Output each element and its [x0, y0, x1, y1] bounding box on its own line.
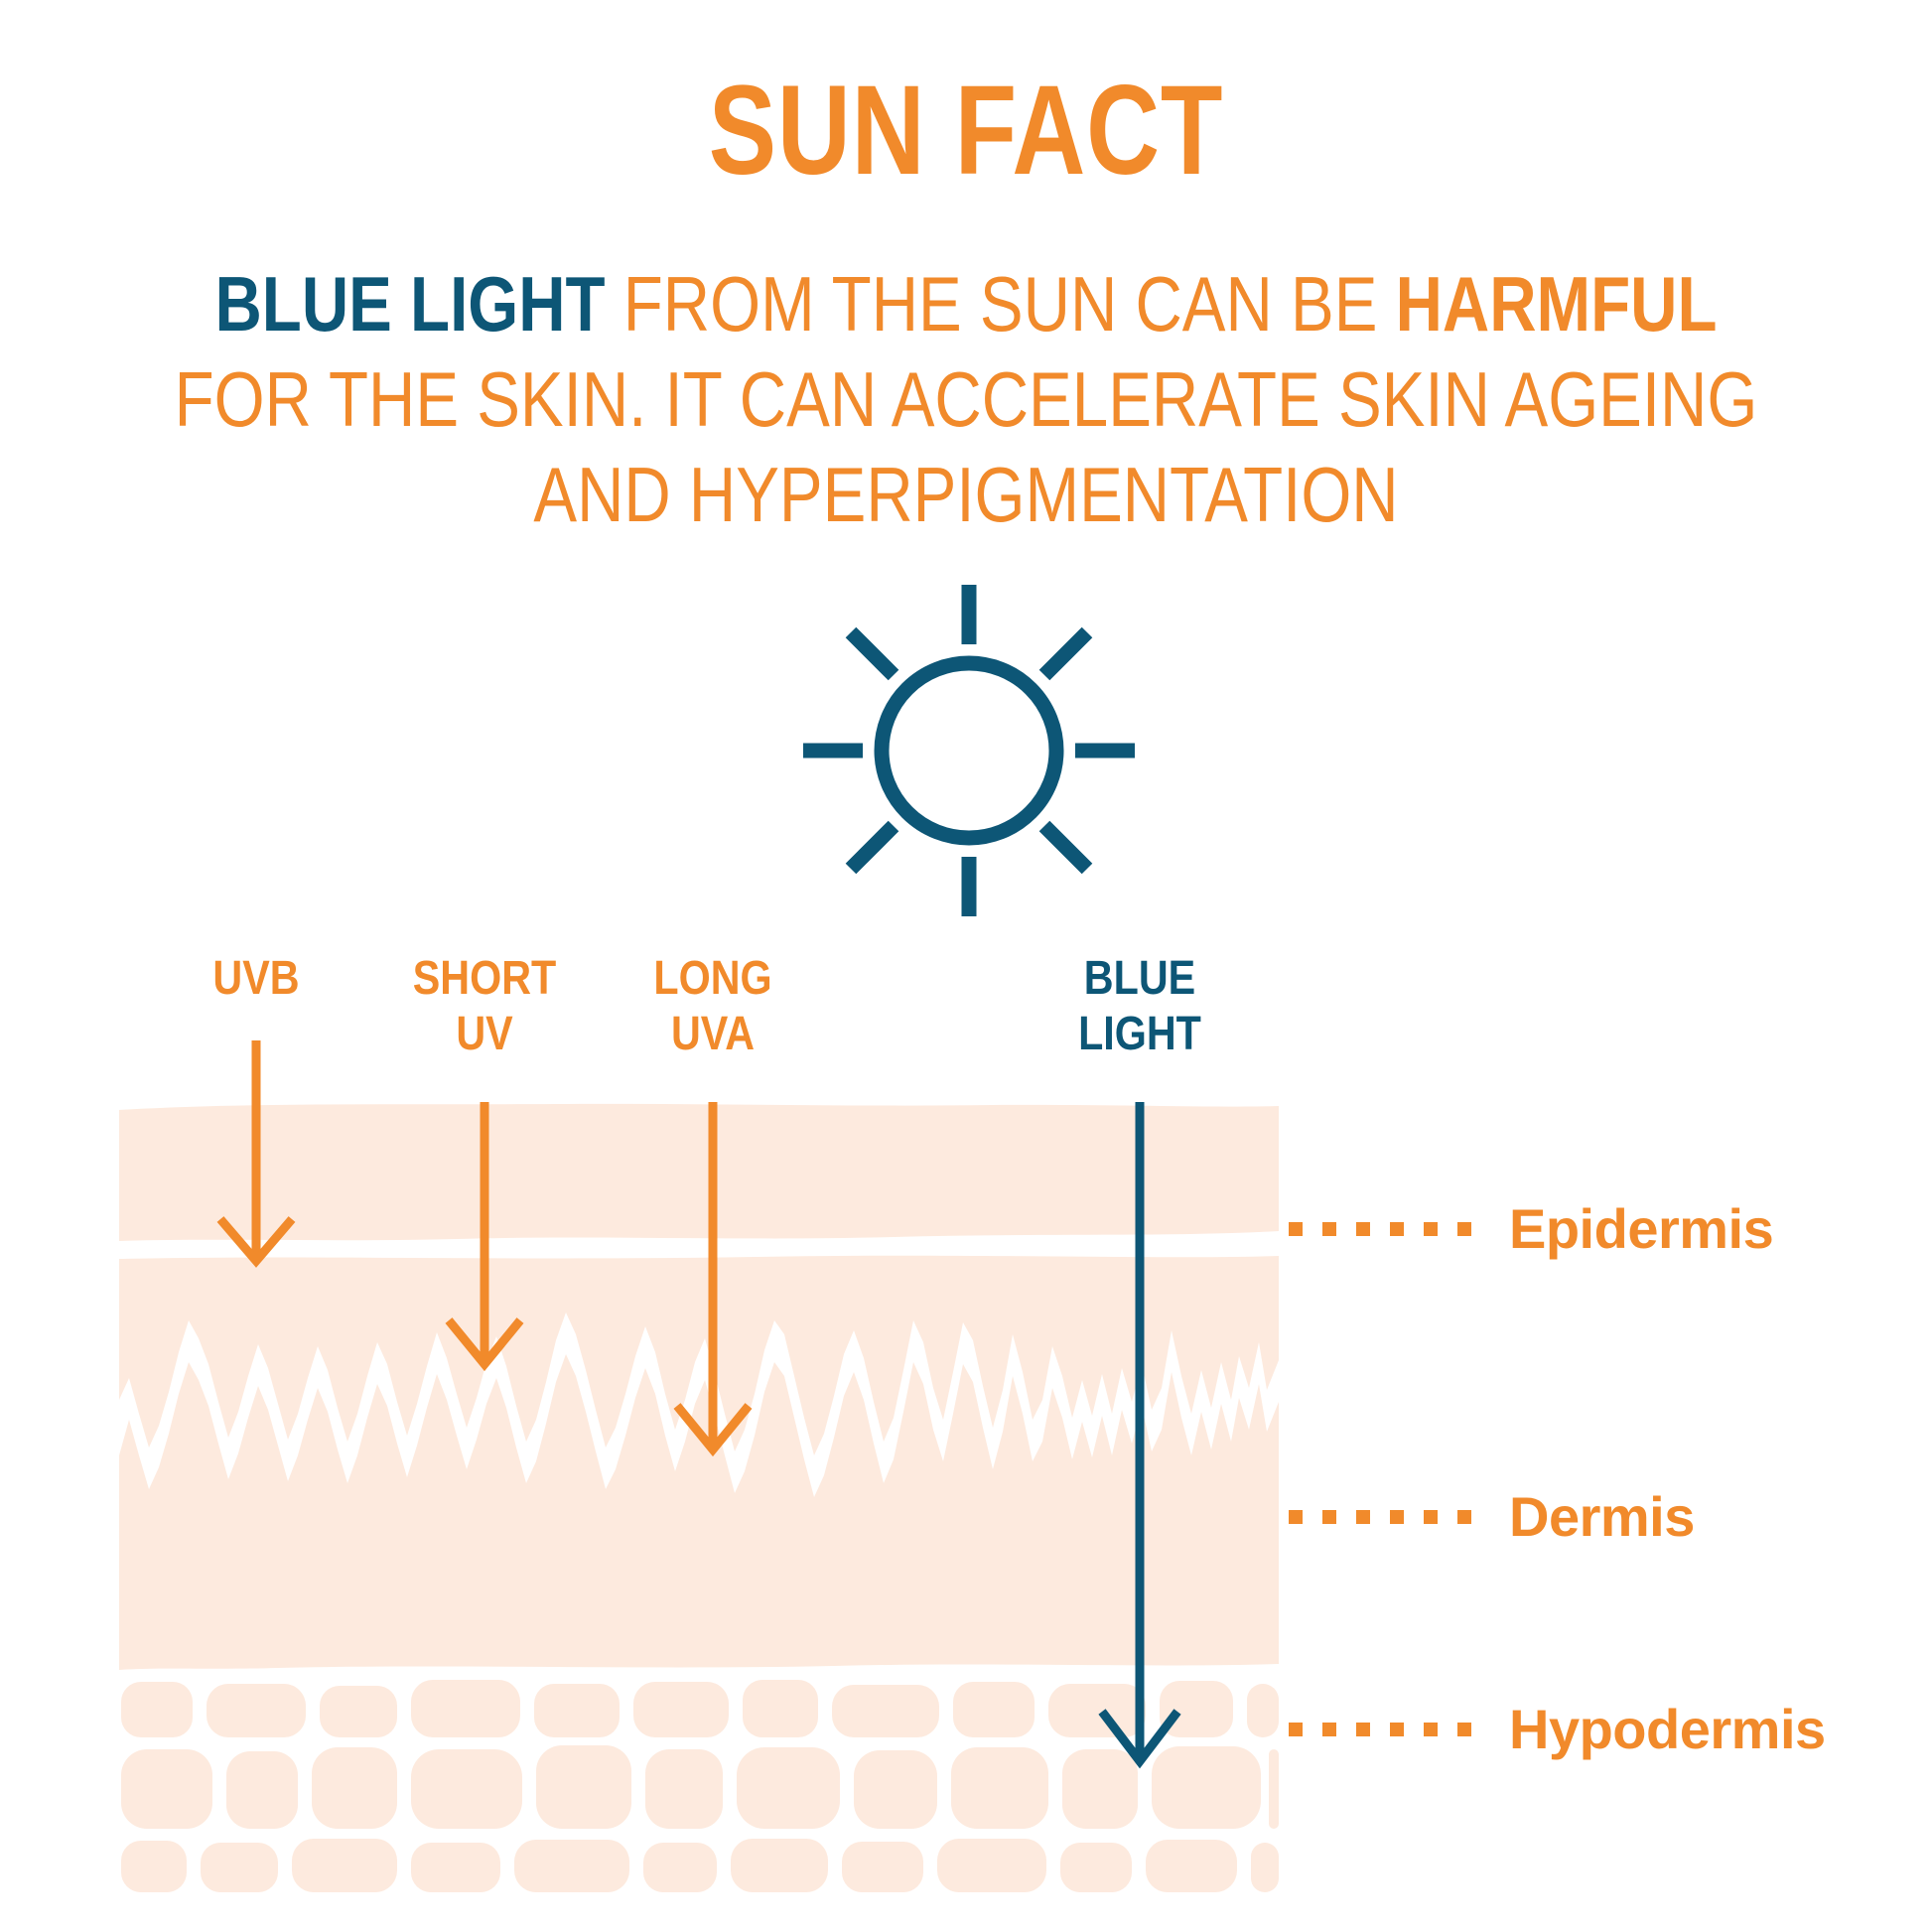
legend-label-hypodermis: Hypodermis [1509, 1700, 1826, 1759]
legend-item-dermis: Dermis [1289, 1487, 1695, 1547]
legend-label-epidermis: Epidermis [1509, 1199, 1773, 1259]
infographic-canvas: SUN FACT BLUE LIGHT FROM THE SUN CAN BE … [0, 0, 1932, 1932]
skin-cross-section-diagram [0, 0, 1932, 1932]
hypodermis-row-2 [121, 1745, 1279, 1829]
legend-label-dermis: Dermis [1509, 1487, 1695, 1547]
legend-leader-line-epidermis [1289, 1222, 1483, 1236]
legend-leader-line-dermis [1289, 1510, 1483, 1524]
hypodermis-row-3 [121, 1839, 1279, 1892]
hypodermis-row-1 [121, 1680, 1279, 1737]
legend-item-epidermis: Epidermis [1289, 1199, 1773, 1259]
legend-leader-line-hypodermis [1289, 1723, 1483, 1736]
legend-item-hypodermis: Hypodermis [1289, 1700, 1826, 1759]
